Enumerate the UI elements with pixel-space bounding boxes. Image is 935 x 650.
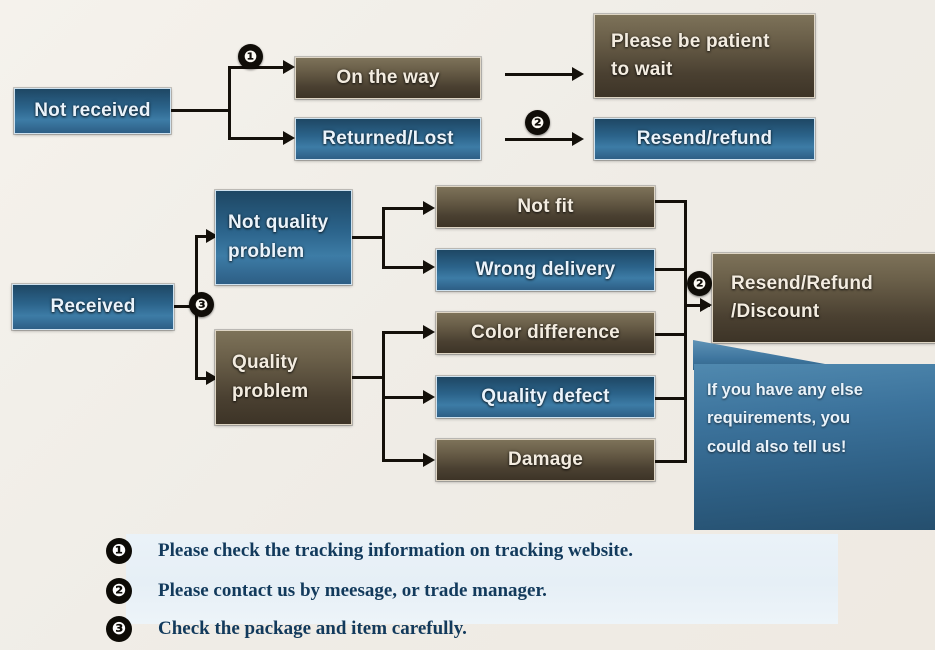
connector-quality-defect-out (655, 397, 687, 400)
legend-item-3: ❸ Check the package and item carefully. (106, 616, 467, 642)
node-damage-label: Damage (508, 446, 583, 475)
node-damage[interactable]: Damage (436, 439, 655, 481)
arrowhead-resend-refund (572, 132, 584, 146)
speech-bubble-line2: requirements, you (707, 404, 922, 432)
connector-to-quality-defect (382, 396, 426, 399)
connector-not-received-split (228, 66, 231, 140)
node-not-received-label: Not received (34, 97, 150, 126)
node-resend-refund[interactable]: Resend/refund (594, 118, 815, 160)
legend-badge-3: ❸ (106, 616, 132, 642)
node-please-be-patient-line2: to wait (611, 56, 673, 85)
arrowhead-not-fit (423, 201, 435, 215)
arrowhead-returned-lost (283, 131, 295, 145)
node-wrong-delivery[interactable]: Wrong delivery (436, 249, 655, 291)
connector-not-received-stem (171, 109, 231, 112)
node-not-received[interactable]: Not received (14, 88, 171, 134)
node-not-quality-problem[interactable]: Not quality problem (215, 190, 352, 285)
connector-returned-to-resend (505, 138, 575, 141)
node-quality-problem-line1: Quality (232, 349, 298, 378)
node-quality-problem-line2: problem (232, 378, 308, 407)
connector-not-fit-out (655, 200, 687, 203)
arrowhead-quality-defect (423, 390, 435, 404)
node-resend-refund-discount-line1: Resend/Refund (731, 270, 873, 299)
legend-text-3: Check the package and item carefully. (158, 618, 467, 640)
node-wrong-delivery-label: Wrong delivery (476, 256, 616, 285)
legend-text-2: Please contact us by meesage, or trade m… (158, 580, 547, 602)
connector-quality-stem (352, 376, 385, 379)
node-received-label: Received (50, 293, 135, 322)
node-resend-refund-discount[interactable]: Resend/Refund /Discount (712, 253, 935, 343)
arrowhead-damage (423, 453, 435, 467)
speech-bubble-line1: If you have any else (707, 376, 922, 404)
connector-damage-out (655, 460, 687, 463)
badge-two-top: ❷ (525, 110, 550, 135)
arrowhead-wrong-delivery (423, 260, 435, 274)
arrowhead-on-the-way (283, 60, 295, 74)
connector-color-difference-out (655, 333, 687, 336)
connector-not-quality-stem (352, 236, 385, 239)
arrowhead-color-difference (423, 325, 435, 339)
connector-to-returned-lost (228, 137, 286, 140)
node-quality-problem[interactable]: Quality problem (215, 330, 352, 425)
badge-three: ❸ (189, 292, 214, 317)
legend-item-1: ❶ Please check the tracking information … (106, 538, 633, 564)
badge-one-top: ❶ (238, 44, 263, 69)
legend-badge-1: ❶ (106, 538, 132, 564)
node-not-fit[interactable]: Not fit (436, 186, 655, 228)
node-not-quality-problem-line2: problem (228, 238, 304, 267)
speech-bubble: If you have any else requirements, you c… (694, 364, 935, 530)
node-not-fit-label: Not fit (517, 193, 573, 222)
arrowhead-please-be-patient (572, 67, 584, 81)
connector-to-damage (382, 459, 426, 462)
arrowhead-resend-refund-discount (700, 298, 712, 312)
node-color-difference[interactable]: Color difference (436, 312, 655, 354)
node-resend-refund-label: Resend/refund (637, 125, 773, 154)
node-received[interactable]: Received (12, 284, 174, 330)
legend-text-1: Please check the tracking information on… (158, 540, 633, 562)
node-please-be-patient-line1: Please be patient (611, 28, 770, 57)
speech-bubble-line3: could also tell us! (707, 433, 922, 461)
legend-item-2: ❷ Please contact us by meesage, or trade… (106, 578, 547, 604)
node-on-the-way-label: On the way (336, 64, 439, 93)
node-not-quality-problem-line1: Not quality (228, 209, 328, 238)
connector-to-not-fit (382, 207, 426, 210)
connector-outcomes-merge (684, 200, 687, 463)
node-returned-lost[interactable]: Returned/Lost (295, 118, 481, 160)
node-color-difference-label: Color difference (471, 319, 620, 348)
connector-to-wrong-delivery (382, 266, 426, 269)
flowchart-canvas: Not received ❶ On the way Returned/Lost … (0, 0, 935, 650)
node-returned-lost-label: Returned/Lost (322, 125, 453, 154)
connector-not-quality-split (382, 207, 385, 269)
connector-wrong-delivery-out (655, 268, 687, 271)
node-please-be-patient[interactable]: Please be patient to wait (594, 14, 815, 98)
node-on-the-way[interactable]: On the way (295, 57, 481, 99)
connector-to-color-difference (382, 331, 426, 334)
node-quality-defect-label: Quality defect (481, 383, 609, 412)
connector-on-the-way-to-patient (505, 73, 575, 76)
legend-badge-2: ❷ (106, 578, 132, 604)
node-quality-defect[interactable]: Quality defect (436, 376, 655, 418)
node-resend-refund-discount-line2: /Discount (731, 298, 819, 327)
badge-two-bottom: ❷ (687, 271, 712, 296)
